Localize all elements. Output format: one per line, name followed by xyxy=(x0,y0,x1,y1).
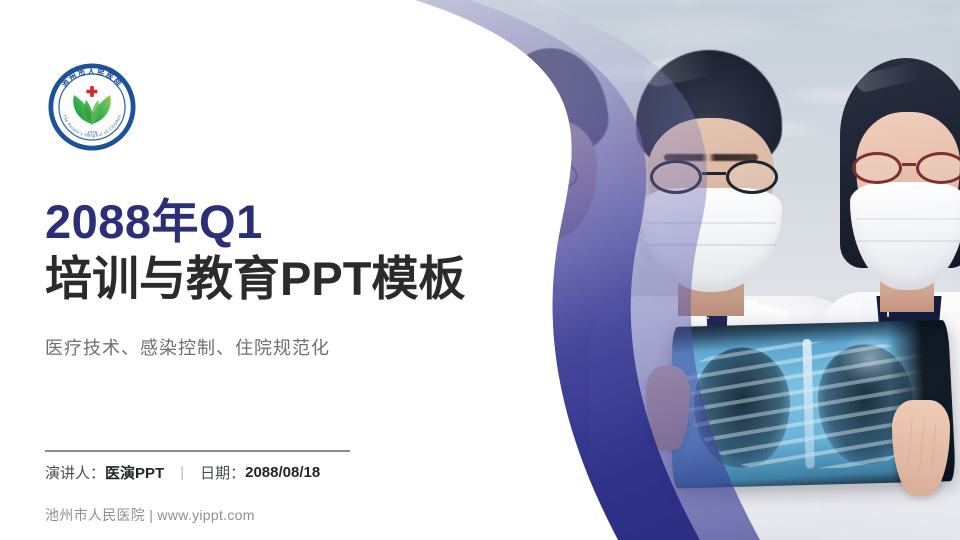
eyeglass-lens-left xyxy=(650,160,702,194)
eyeglass-bridge xyxy=(902,163,916,166)
eyeglass-lens-right xyxy=(916,152,960,184)
subtitle: 医疗技术、感染控制、住院规范化 xyxy=(45,334,330,360)
eyeglass-lens-left xyxy=(852,152,902,184)
speaker-value: 医演PPT xyxy=(105,462,164,483)
hand-holding-xray-left xyxy=(646,366,690,450)
meta-divider-line xyxy=(45,450,350,452)
presentation-title-slide: 池州市人民医院 The People's Hospital of Chizhou… xyxy=(0,0,960,540)
title-block: 2088年Q1 培训与教育PPT模板 xyxy=(45,196,515,305)
date-label: 日期： xyxy=(200,462,245,483)
eyeglass-lens-right xyxy=(726,160,778,194)
title-line-1: 2088年Q1 xyxy=(45,196,515,249)
doctor-male-eyeglasses-icon xyxy=(650,160,778,194)
speaker-label: 演讲人： xyxy=(45,462,105,483)
date-value: 2088/08/18 xyxy=(245,464,320,481)
doctor-female-eyeglasses-icon xyxy=(852,152,960,186)
svg-text:1970: 1970 xyxy=(87,131,98,137)
eyeglass-bridge xyxy=(702,172,726,175)
hospital-logo: 池州市人民医院 The People's Hospital of Chizhou… xyxy=(47,62,137,152)
presenter-meta: 演讲人： 医演PPT | 日期： 2088/08/18 xyxy=(45,462,320,483)
footer-text: 池州市人民医院 | www.yippt.com xyxy=(45,505,255,525)
title-line-2: 培训与教育PPT模板 xyxy=(45,253,515,306)
title-content: 池州市人民医院 The People's Hospital of Chizhou… xyxy=(0,0,520,540)
meta-separator: | xyxy=(180,464,184,481)
